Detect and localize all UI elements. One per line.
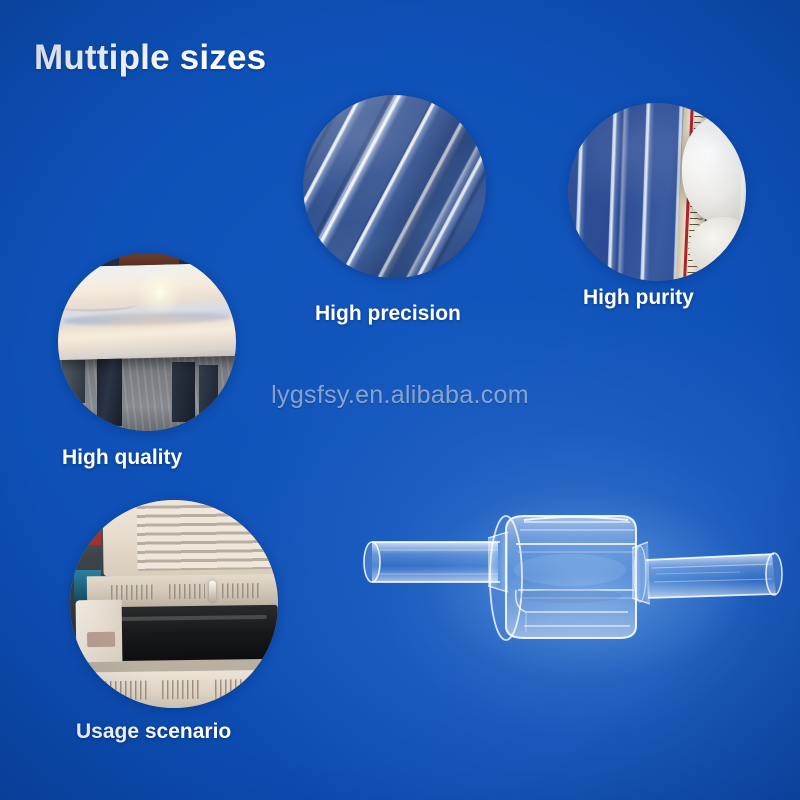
left-tube	[364, 542, 500, 582]
high-purity-label: High purity	[583, 286, 694, 310]
quartz-vessel-illustration	[348, 486, 800, 682]
high-precision-label: High precision	[315, 302, 461, 326]
support-block	[172, 362, 195, 423]
gloved-thumb	[689, 217, 746, 278]
page-title: Muttiple sizes	[34, 38, 266, 78]
furnace-chamber	[103, 605, 278, 662]
furnace-latch	[209, 580, 216, 601]
high-quality-label: High quality	[62, 446, 182, 470]
quartz-ingot	[58, 263, 236, 360]
high-quality-photo	[58, 253, 236, 431]
product-image	[348, 486, 800, 682]
furnace-base-panel	[78, 669, 278, 708]
furnace-top-panel	[103, 500, 278, 576]
furnace-door	[76, 600, 123, 663]
support-block	[199, 365, 219, 422]
high-precision-photo	[303, 95, 486, 278]
blue-cloth-patch	[696, 172, 743, 237]
support-block	[97, 358, 122, 426]
right-tube	[646, 553, 782, 598]
high-precision-shadow-overlay	[303, 95, 486, 278]
usage-scenario-photo	[70, 500, 278, 708]
product-banner: Muttiple sizes High precision High purit…	[0, 0, 800, 800]
high-purity-photo	[568, 103, 746, 281]
vent-slots	[168, 584, 205, 599]
vent-slots	[100, 680, 149, 700]
vent-slots	[111, 585, 156, 600]
vent-slots	[215, 679, 264, 699]
support-block	[62, 360, 85, 403]
vent-slots	[221, 583, 262, 598]
ruler-icon	[676, 103, 711, 281]
cylinder-body	[490, 516, 636, 640]
usage-scenario-label: Usage scenario	[76, 720, 231, 744]
gloved-hand	[682, 114, 746, 224]
vent-slots	[162, 680, 202, 700]
